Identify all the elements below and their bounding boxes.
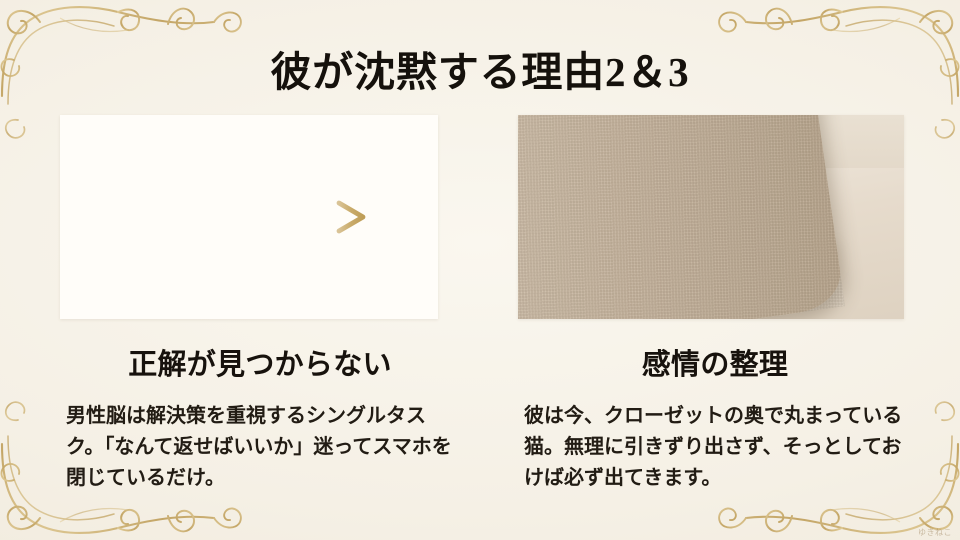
photo-sofa-texture [518, 115, 844, 319]
kitten-under-sofa-photo [518, 115, 904, 319]
caption-left: 正解が見つからない [60, 341, 460, 383]
body-left: 男性脳は解決策を重視するシングルタスク。「なんて返せばいいか」迷ってスマホを閉じ… [60, 401, 460, 495]
right-arrow-icon [123, 197, 375, 237]
watermark: ゆきねこ [918, 527, 952, 538]
caption-right: 感情の整理 [510, 341, 920, 383]
media-card-photo [518, 115, 904, 319]
column-left: 正解が見つからない 男性脳は解決策を重視するシングルタスク。「なんて返せばいいか… [60, 115, 460, 495]
slide-canvas: 彼が沈黙する理由2＆3 正解が見つからない 男性脳は解決策を重視するシングルタス… [0, 0, 960, 540]
photo-sofa [518, 115, 844, 319]
page-title: 彼が沈黙する理由2＆3 [0, 38, 960, 98]
body-right: 彼は今、クローゼットの奥で丸まっている猫。無理に引きずり出さず、そっとしておけば… [500, 401, 920, 495]
media-card-arrow [60, 115, 438, 319]
column-right: 感情の整理 彼は今、クローゼットの奥で丸まっている猫。無理に引きずり出さず、そっ… [500, 115, 920, 495]
